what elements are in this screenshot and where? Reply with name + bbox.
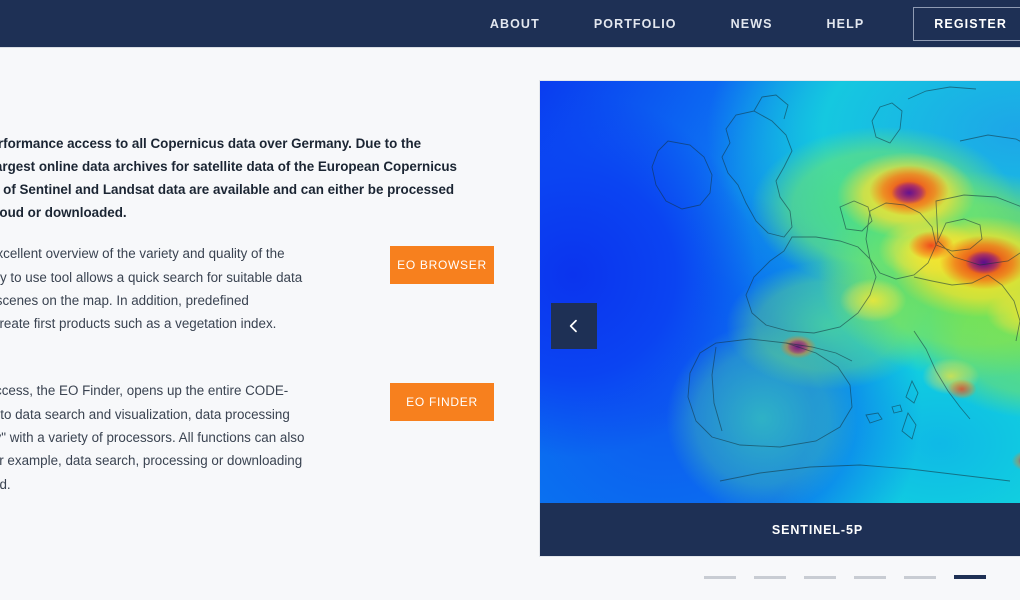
carousel-caption-label: SENTINEL-5P bbox=[772, 523, 863, 537]
register-button[interactable]: REGISTER bbox=[913, 7, 1020, 41]
pagination-dash-4[interactable] bbox=[854, 576, 886, 579]
carousel-pagination bbox=[540, 575, 1020, 579]
page-title: Data bbox=[0, 76, 492, 112]
carousel-caption-bar: SENTINEL-5P bbox=[540, 503, 1020, 556]
intro-paragraph: CODE-DE offers a high-performance access… bbox=[0, 132, 472, 224]
pagination-dash-6[interactable] bbox=[954, 575, 986, 579]
map-coastline-overlay bbox=[540, 81, 1020, 503]
nav-item-portfolio[interactable]: PORTFOLIO bbox=[567, 0, 704, 48]
carousel-prev-button[interactable] bbox=[551, 303, 597, 349]
tool-block-eo-finder: The powerful tool for data access, the E… bbox=[0, 379, 492, 496]
site-header: ABOUT PORTFOLIO NEWS HELP REGISTER bbox=[0, 0, 1020, 48]
page-root: ABOUT PORTFOLIO NEWS HELP REGISTER Data … bbox=[0, 0, 1020, 600]
chevron-left-icon bbox=[566, 318, 582, 334]
eo-browser-button[interactable]: EO BROWSER bbox=[390, 246, 494, 284]
carousel-slide-image bbox=[540, 81, 1020, 503]
eo-finder-description: The powerful tool for data access, the E… bbox=[0, 379, 306, 496]
eo-browser-description: The EO-Browser gives an excellent overvi… bbox=[0, 242, 306, 335]
main-content: Data CODE-DE offers a high-performance a… bbox=[0, 48, 492, 500]
nav-item-about[interactable]: ABOUT bbox=[463, 0, 567, 48]
image-carousel: SENTINEL-5P bbox=[540, 81, 1020, 556]
pagination-dash-2[interactable] bbox=[754, 576, 786, 579]
nav-item-help[interactable]: HELP bbox=[800, 0, 892, 48]
pagination-dash-1[interactable] bbox=[704, 576, 736, 579]
pagination-dash-3[interactable] bbox=[804, 576, 836, 579]
nav-item-news[interactable]: NEWS bbox=[704, 0, 800, 48]
eo-finder-button[interactable]: EO FINDER bbox=[390, 383, 494, 421]
pagination-dash-5[interactable] bbox=[904, 576, 936, 579]
main-navigation: ABOUT PORTFOLIO NEWS HELP REGISTER bbox=[463, 0, 1020, 48]
tool-block-eo-browser: The EO-Browser gives an excellent overvi… bbox=[0, 242, 492, 335]
